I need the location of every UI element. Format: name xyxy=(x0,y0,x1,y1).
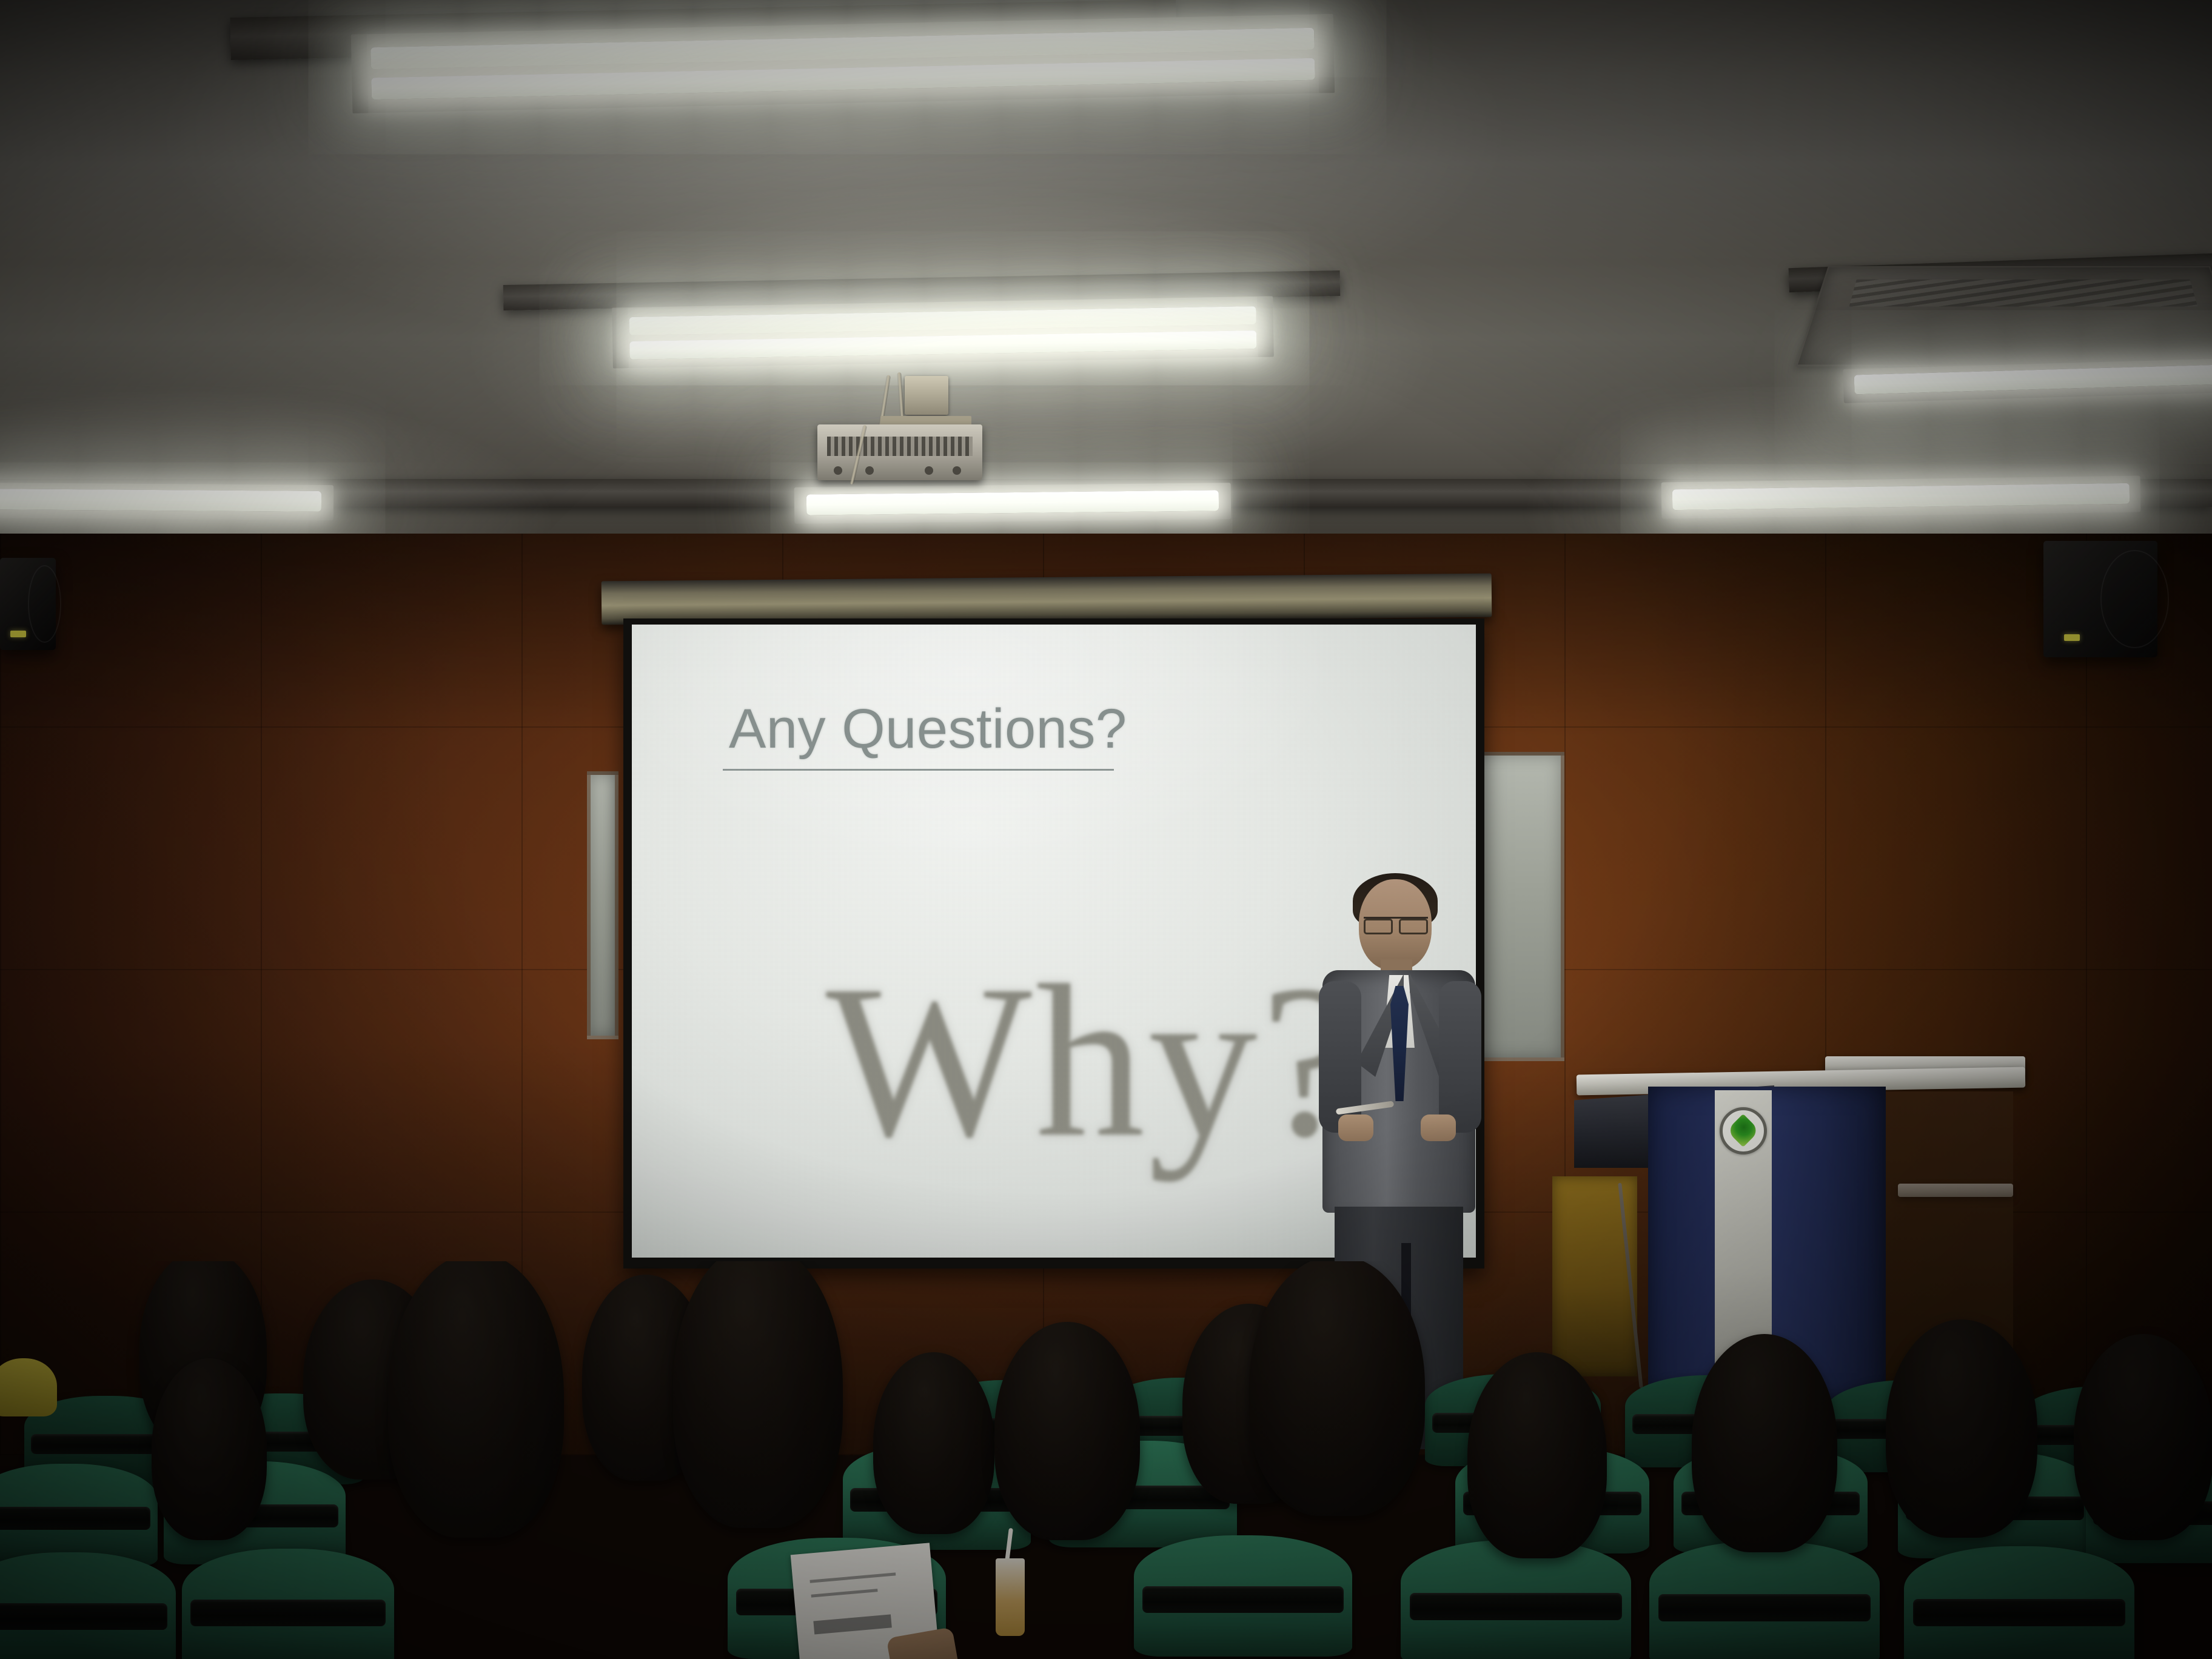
light-endcap-left xyxy=(612,307,629,368)
list-item xyxy=(1401,1540,1631,1659)
attendee-head xyxy=(388,1261,564,1538)
projector-mount-plate xyxy=(905,376,948,415)
list-item xyxy=(1904,1546,2134,1659)
list-item xyxy=(1649,1541,1880,1659)
fluorescent-light-mid-center xyxy=(794,483,1232,524)
green-leaf-emblem xyxy=(1720,1107,1767,1155)
attendee-head xyxy=(1886,1319,2037,1538)
speaker-led-indicator xyxy=(10,631,26,637)
light-endcap-right xyxy=(1317,14,1335,93)
attendee-head xyxy=(994,1322,1140,1540)
wall-speaker-right xyxy=(2043,541,2157,657)
speaker-cone xyxy=(2100,550,2169,648)
attendee-head xyxy=(873,1352,994,1534)
ceiling-projector xyxy=(817,424,982,480)
presenter-arm-right xyxy=(1439,981,1481,1133)
attendee-head xyxy=(1249,1261,1425,1516)
speaker-cone xyxy=(28,565,61,643)
speaker-led-indicator xyxy=(2064,634,2080,641)
lecture-hall-photo: Any Questions? Why? xyxy=(0,0,2212,1659)
attendee-head xyxy=(1467,1352,1607,1558)
leaf-icon xyxy=(1726,1114,1760,1148)
podium-equipment-shelf xyxy=(1898,1184,2013,1197)
list-item xyxy=(0,1552,176,1659)
presenter-hand-right xyxy=(1421,1114,1456,1141)
paper-text-line xyxy=(813,1614,892,1634)
attendee-head xyxy=(2074,1334,2212,1540)
glasses-icon xyxy=(1364,917,1428,930)
drink-cup xyxy=(996,1558,1025,1636)
slide-title-underline xyxy=(723,769,1114,771)
presenter-hand-left xyxy=(1338,1114,1373,1141)
light-tube xyxy=(806,490,1219,515)
fluorescent-light-right xyxy=(1661,475,2141,518)
ceiling-air-vent xyxy=(1795,266,2212,367)
list-item xyxy=(1134,1535,1352,1657)
light-endcap-left xyxy=(351,34,369,113)
attendee-head xyxy=(1692,1334,1837,1552)
light-endcap-right xyxy=(1257,296,1274,357)
audience-area xyxy=(0,1261,2212,1659)
list-item xyxy=(0,1464,158,1567)
fluorescent-light-front-center xyxy=(612,296,1274,368)
list-item xyxy=(182,1549,394,1659)
light-tube xyxy=(0,489,321,512)
paper-text-line xyxy=(809,1572,896,1583)
slide-headline: Why? xyxy=(826,952,1362,1170)
slide-title: Any Questions? xyxy=(729,697,1127,761)
fluorescent-light-left-edge xyxy=(0,483,333,520)
wall-speaker-left xyxy=(0,558,56,650)
yellow-cap xyxy=(0,1358,57,1416)
acoustic-panel-left xyxy=(587,771,618,1039)
paper-text-line xyxy=(811,1589,877,1598)
attendee-head xyxy=(152,1358,267,1540)
attendee-head xyxy=(673,1261,843,1528)
screen-roller-housing xyxy=(602,574,1492,625)
